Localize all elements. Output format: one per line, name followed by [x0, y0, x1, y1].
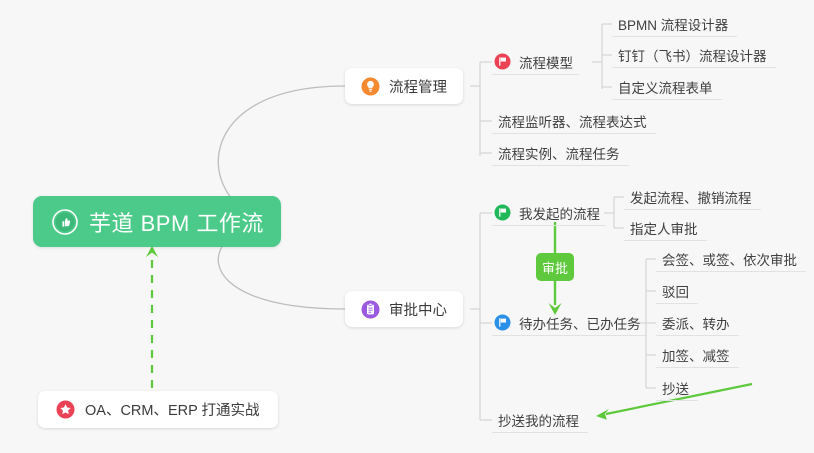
callout-node-integration[interactable]: OA、CRM、ERP 打通实战	[38, 391, 278, 428]
leaf-node-bpmn-designer[interactable]: BPMN 流程设计器	[612, 11, 737, 37]
clipboard-icon	[361, 300, 380, 319]
callout-arrow	[146, 246, 158, 388]
star-icon	[56, 400, 75, 419]
sub-node-my-initiated-process[interactable]: 我发起的流程	[492, 200, 606, 226]
mindmap-canvas: 芋道 BPM 工作流 流程管理 流程模型 BPMN 流程设计器 钉钉（飞书）流程…	[0, 0, 814, 453]
callout-label: OA、CRM、ERP 打通实战	[85, 399, 260, 420]
lightbulb-icon	[361, 77, 380, 96]
leaf-node-custom-process-form[interactable]: 自定义流程表单	[612, 74, 722, 100]
leaf-node-reject[interactable]: 驳回	[656, 278, 698, 304]
leaf-node-listener-expression[interactable]: 流程监听器、流程表达式	[492, 108, 656, 134]
flag-icon	[494, 53, 511, 70]
leaf-node-instance-task[interactable]: 流程实例、流程任务	[492, 140, 629, 166]
leaf-node-cc-to-me-process[interactable]: 抄送我的流程	[492, 407, 588, 433]
root-node[interactable]: 芋道 BPM 工作流	[33, 196, 281, 247]
sub-node-label: 待办任务、已办任务	[519, 313, 641, 333]
branch-node-process-management[interactable]: 流程管理	[345, 68, 463, 104]
root-label: 芋道 BPM 工作流	[89, 206, 264, 238]
leaf-node-multi-sign-approval[interactable]: 会签、或签、依次审批	[656, 246, 806, 272]
thumbs-up-icon	[52, 209, 78, 235]
sub-node-process-model[interactable]: 流程模型	[492, 49, 579, 75]
approval-annotation-label: 审批	[542, 258, 568, 277]
sub-node-todo-done-tasks[interactable]: 待办任务、已办任务	[492, 310, 647, 336]
leaf-node-assignee-approval[interactable]: 指定人审批	[624, 215, 707, 241]
leaf-node-carbon-copy[interactable]: 抄送	[656, 375, 698, 401]
approval-annotation-chip: 审批	[536, 253, 574, 281]
branch-label: 审批中心	[389, 299, 447, 320]
leaf-node-delegate-transfer[interactable]: 委派、转办	[656, 310, 739, 336]
branch-node-approval-center[interactable]: 审批中心	[345, 291, 463, 327]
sub-node-label: 我发起的流程	[519, 203, 600, 223]
flag-icon	[494, 314, 511, 331]
branch-label: 流程管理	[389, 76, 447, 97]
leaf-node-add-remove-sign[interactable]: 加签、减签	[656, 342, 739, 368]
sub-node-label: 流程模型	[519, 52, 573, 72]
leaf-node-dingtalk-feishu-designer[interactable]: 钉钉（飞书）流程设计器	[612, 42, 776, 68]
flag-icon	[494, 204, 511, 221]
leaf-node-start-cancel-process[interactable]: 发起流程、撤销流程	[624, 184, 761, 210]
